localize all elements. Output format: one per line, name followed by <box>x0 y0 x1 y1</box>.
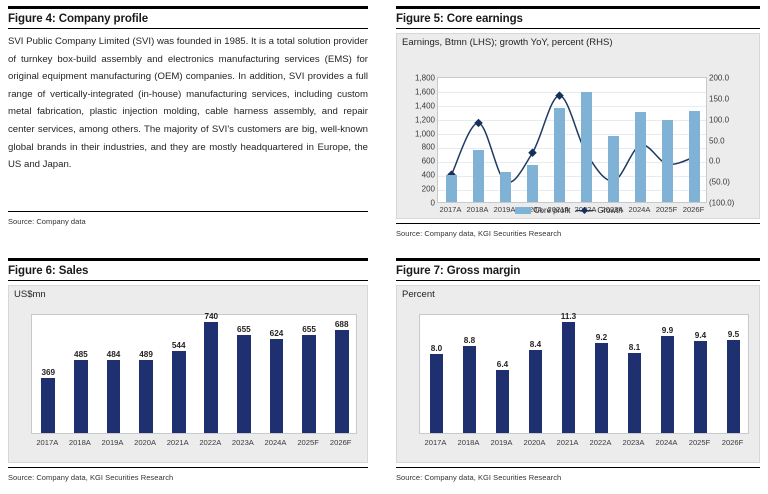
fig7-data-label: 8.0 <box>420 344 453 353</box>
fig5-ytick-right-neg50: (50.0) <box>709 178 759 187</box>
fig7-data-label: 9.2 <box>585 333 618 342</box>
fig6-bar[interactable] <box>204 322 218 433</box>
fig7-data-label: 9.9 <box>651 326 684 335</box>
fig5-gridline <box>438 106 706 107</box>
fig7-data-label: 8.8 <box>453 336 486 345</box>
fig5-ytick-left-1800: 1,800 <box>399 73 435 82</box>
fig5-bar-core-profit[interactable] <box>473 150 484 202</box>
fig7-bar[interactable] <box>463 346 477 433</box>
fig5-ytick-left-1400: 1,400 <box>399 101 435 110</box>
fig7-bar[interactable] <box>727 340 741 433</box>
figure-4-source: Source: Company data <box>8 211 368 226</box>
fig6-xtick: 2019A <box>96 438 129 447</box>
fig7-bar[interactable] <box>595 343 609 433</box>
figure-5-source: Source: Company data, KGI Securities Res… <box>396 223 760 238</box>
figure-6-title: Figure 6: Sales <box>8 265 368 281</box>
figure-5-top-rule <box>396 6 760 9</box>
fig7-xtick: 2021A <box>551 438 584 447</box>
fig7-data-label: 8.1 <box>618 343 651 352</box>
fig5-ytick-right-0: 0.0 <box>709 157 759 166</box>
fig5-xtick: 2026F <box>680 205 707 214</box>
fig7-xtick: 2020A <box>518 438 551 447</box>
fig5-legend-growth[interactable]: Growth <box>576 206 622 215</box>
fig7-xtick: 2018A <box>452 438 485 447</box>
fig7-xtick: 2024A <box>650 438 683 447</box>
figure-5-panel: Figure 5: Core earnings Earnings, Btmn (… <box>396 6 760 246</box>
fig5-bar-core-profit[interactable] <box>662 120 673 202</box>
figure-7-subtitle: Percent <box>397 286 759 300</box>
fig6-data-label: 655 <box>293 325 326 334</box>
fig6-xtick: 2018A <box>64 438 97 447</box>
fig5-legend-core-profit[interactable]: Core profit <box>515 206 570 215</box>
fig5-ytick-left-200: 200 <box>399 185 435 194</box>
fig6-data-label: 688 <box>325 320 358 329</box>
fig5-bar-core-profit[interactable] <box>500 172 511 202</box>
fig7-xtick: 2019A <box>485 438 518 447</box>
fig7-data-label: 9.5 <box>717 330 750 339</box>
figure-7-chart[interactable]: Percent 8.08.86.48.411.39.28.19.99.49.5 … <box>396 285 760 463</box>
fig5-bar-core-profit[interactable] <box>608 136 619 202</box>
fig7-bar[interactable] <box>661 336 675 433</box>
fig6-data-label: 624 <box>260 329 293 338</box>
fig6-data-label: 369 <box>32 368 65 377</box>
fig6-bar[interactable] <box>335 330 349 433</box>
fig6-data-label: 485 <box>65 350 98 359</box>
fig5-ytick-right-150: 150.0 <box>709 95 759 104</box>
fig5-plot-area <box>437 77 707 203</box>
figure-5-chart[interactable]: Earnings, Btmn (LHS); growth YoY, percen… <box>396 33 760 219</box>
fig6-data-label: 544 <box>162 341 195 350</box>
fig7-data-label: 6.4 <box>486 360 519 369</box>
fig6-bar[interactable] <box>270 339 284 433</box>
fig5-xtick: 2019A <box>491 205 518 214</box>
fig6-data-label: 740 <box>195 312 228 321</box>
figure-7-title: Figure 7: Gross margin <box>396 265 760 281</box>
fig5-bar-core-profit[interactable] <box>689 111 700 202</box>
fig7-bar[interactable] <box>562 322 576 433</box>
fig6-bar[interactable] <box>107 360 121 433</box>
fig6-bar[interactable] <box>172 351 186 433</box>
figure-6-panel: Figure 6: Sales US$mn 369485484489544740… <box>8 258 368 490</box>
fig7-xtick: 2022A <box>584 438 617 447</box>
bar-swatch-icon <box>515 207 531 214</box>
fig7-data-label: 9.4 <box>684 331 717 340</box>
fig5-xtick: 2025F <box>653 205 680 214</box>
fig6-bar[interactable] <box>237 335 251 433</box>
figure-6-chart[interactable]: US$mn 369485484489544740655624655688 201… <box>8 285 368 463</box>
figure-4-top-rule <box>8 6 368 9</box>
figure-5-title: Figure 5: Core earnings <box>396 13 760 29</box>
fig6-xtick: 2024A <box>259 438 292 447</box>
fig5-bar-core-profit[interactable] <box>446 175 457 202</box>
fig6-xtick: 2022A <box>194 438 227 447</box>
fig5-bar-core-profit[interactable] <box>581 92 592 202</box>
fig7-bar[interactable] <box>529 350 543 433</box>
fig6-bar[interactable] <box>302 335 316 433</box>
fig7-xtick: 2025F <box>683 438 716 447</box>
fig6-xtick: 2020A <box>129 438 162 447</box>
fig7-plot-area: 8.08.86.48.411.39.28.19.99.49.5 <box>419 314 749 434</box>
figure-4-panel: Figure 4: Company profile SVI Public Com… <box>8 6 368 246</box>
fig5-xtick: 2024A <box>626 205 653 214</box>
fig6-xtick: 2021A <box>161 438 194 447</box>
fig7-bar[interactable] <box>628 353 642 433</box>
figure-6-subtitle: US$mn <box>9 286 367 300</box>
fig6-xtick: 2026F <box>324 438 357 447</box>
fig7-xtick: 2023A <box>617 438 650 447</box>
fig6-data-label: 655 <box>228 325 261 334</box>
report-page: Figure 4: Company profile SVI Public Com… <box>0 0 768 494</box>
fig7-data-label: 8.4 <box>519 340 552 349</box>
fig6-bar[interactable] <box>41 378 55 433</box>
figure-4-title: Figure 4: Company profile <box>8 13 368 29</box>
fig5-ytick-right-neg100: (100.0) <box>709 199 759 208</box>
fig5-ytick-left-800: 800 <box>399 143 435 152</box>
fig5-bar-core-profit[interactable] <box>527 165 538 202</box>
fig6-bar[interactable] <box>139 360 153 433</box>
fig5-ytick-right-200: 200.0 <box>709 74 759 83</box>
fig5-ytick-left-1600: 1,600 <box>399 87 435 96</box>
fig6-bar[interactable] <box>74 360 88 433</box>
fig7-bar[interactable] <box>694 341 708 433</box>
fig5-xtick: 2017A <box>437 205 464 214</box>
fig5-gridline <box>438 92 706 93</box>
fig6-xtick: 2023A <box>227 438 260 447</box>
fig6-plot-area: 369485484489544740655624655688 <box>31 314 357 434</box>
fig7-bar[interactable] <box>430 354 444 433</box>
fig6-xtick: 2025F <box>292 438 325 447</box>
fig7-xtick: 2017A <box>419 438 452 447</box>
fig5-ytick-right-50: 50.0 <box>709 136 759 145</box>
figure-7-source: Source: Company data, KGI Securities Res… <box>396 467 760 482</box>
figure-7-top-rule <box>396 258 760 261</box>
fig6-xtick: 2017A <box>31 438 64 447</box>
fig7-data-label: 11.3 <box>552 312 585 321</box>
fig5-legend-label-growth: Growth <box>597 206 622 215</box>
fig5-ytick-left-1200: 1,200 <box>399 115 435 124</box>
figure-7-panel: Figure 7: Gross margin Percent 8.08.86.4… <box>396 258 760 490</box>
fig5-ytick-left-1000: 1,000 <box>399 129 435 138</box>
fig5-ytick-left-400: 400 <box>399 171 435 180</box>
fig5-bar-core-profit[interactable] <box>635 112 646 202</box>
fig5-legend-label-core-profit: Core profit <box>534 206 570 215</box>
fig5-legend[interactable]: Core profit Growth <box>515 206 623 215</box>
line-marker-icon <box>576 207 594 215</box>
fig6-data-label: 484 <box>97 350 130 359</box>
fig5-ytick-left-0: 0 <box>399 199 435 208</box>
figure-6-source: Source: Company data, KGI Securities Res… <box>8 467 368 482</box>
fig5-bar-core-profit[interactable] <box>554 108 565 202</box>
figure-5-subtitle: Earnings, Btmn (LHS); growth YoY, percen… <box>397 34 759 48</box>
fig6-data-label: 489 <box>130 350 163 359</box>
fig5-ytick-left-600: 600 <box>399 157 435 166</box>
figure-6-top-rule <box>8 258 368 261</box>
fig5-xtick: 2018A <box>464 205 491 214</box>
company-profile-text: SVI Public Company Limited (SVI) was fou… <box>8 29 368 174</box>
fig5-ytick-right-100: 100.0 <box>709 115 759 124</box>
fig7-bar[interactable] <box>496 370 510 433</box>
fig7-xtick: 2026F <box>716 438 749 447</box>
